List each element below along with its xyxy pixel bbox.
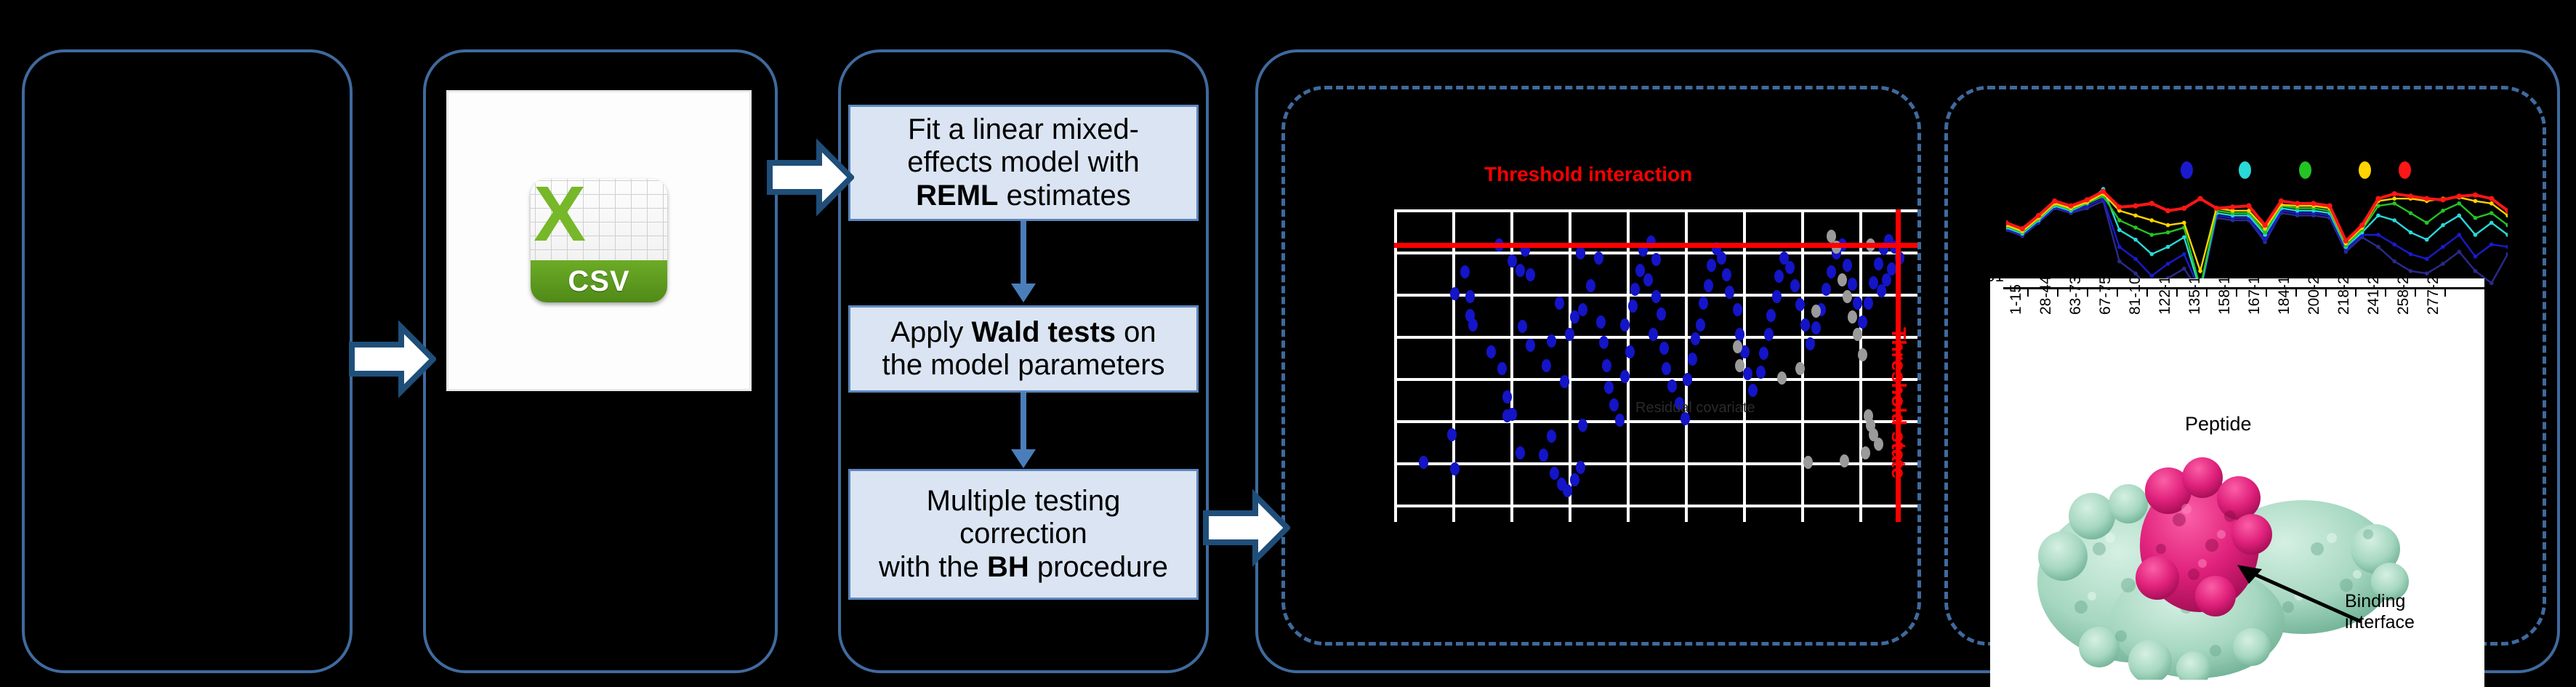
scatter-point xyxy=(1508,254,1517,268)
scatter-point xyxy=(1843,290,1852,303)
peptide-series-marker xyxy=(2473,193,2478,198)
peptide-series-marker xyxy=(2117,204,2122,209)
arrow-data-to-analysis xyxy=(767,138,854,217)
peptide-tick-label: 67-75 xyxy=(2097,278,2114,315)
peptide-series-marker xyxy=(2150,274,2154,278)
peptide-series-marker xyxy=(2133,238,2138,242)
scatter-point xyxy=(1777,371,1787,385)
peptide-axis-tick xyxy=(2087,288,2088,297)
peptide-tick-label: 28-44 xyxy=(2037,278,2055,315)
peptide-series-marker xyxy=(2181,206,2186,211)
peptide-series-marker xyxy=(2457,249,2461,254)
scatter-point xyxy=(1563,484,1572,497)
peptide-series-marker xyxy=(2165,208,2170,213)
peptide-tick-label: 167-180 xyxy=(2246,278,2263,315)
peptide-series-marker xyxy=(2343,238,2348,244)
peptide-axis-tick xyxy=(2325,288,2327,297)
csv-file-card[interactable]: X CSV xyxy=(446,90,752,391)
connector-fit-to-wald xyxy=(1021,221,1026,285)
peptide-series-marker xyxy=(2392,191,2397,196)
scatter-point xyxy=(1699,297,1708,310)
peptide-series-marker xyxy=(2425,221,2429,225)
peptide-axis-tick xyxy=(2415,288,2416,297)
peptide-axis-tick xyxy=(2444,288,2446,297)
peptide-series-marker xyxy=(2117,245,2122,249)
scatter-point xyxy=(1790,279,1800,292)
peptide-series-marker xyxy=(2133,225,2138,230)
scatter-point xyxy=(1450,462,1460,475)
peptide-series-marker xyxy=(2474,254,2478,259)
peptide-series-marker xyxy=(2166,245,2170,249)
peptide-series-marker xyxy=(2182,267,2186,271)
scatter-point xyxy=(1733,340,1742,353)
peptide-series-marker xyxy=(2101,189,2106,194)
peptide-series-marker xyxy=(2182,221,2186,225)
peptide-series-marker xyxy=(2489,196,2494,201)
scatter-point xyxy=(1667,379,1677,393)
peptide-series-marker xyxy=(2409,230,2413,235)
step-multiple-testing[interactable]: Multiple testing correction with the BH … xyxy=(848,469,1199,600)
arrow-analysis-to-results xyxy=(1203,489,1290,567)
peptide-series-marker xyxy=(2409,269,2413,273)
structure-card: 0.01 1-1528-4463-7367-7581-101122-129135… xyxy=(1990,278,2484,687)
peptide-axis-tick xyxy=(2295,288,2297,297)
peptide-series-marker xyxy=(2133,214,2138,218)
peptide-axis-tick xyxy=(2266,288,2267,297)
peptide-series-marker xyxy=(2474,233,2478,237)
peptide-series-marker xyxy=(2425,271,2429,276)
scatter-point xyxy=(1447,428,1457,441)
scatter-point xyxy=(1576,461,1585,474)
peptide-tick-label: 135-144 xyxy=(2186,278,2204,315)
peptide-series-marker xyxy=(2133,257,2138,261)
peptide-series-marker xyxy=(2149,201,2154,206)
peptide-series-marker xyxy=(2392,218,2396,222)
step-multiple-testing-text: Multiple testing correction with the BH … xyxy=(879,485,1168,584)
peptide-series-marker xyxy=(2117,260,2122,264)
peptide-series-marker xyxy=(2117,218,2122,222)
peptide-tick-label: 218-237 xyxy=(2335,278,2353,315)
peptide-series-marker xyxy=(2150,218,2154,222)
legend-dot-timepoint-5 xyxy=(2399,161,2411,179)
peptide-series-marker xyxy=(2425,238,2429,242)
peptide-series-marker xyxy=(2474,269,2478,273)
scatter-point xyxy=(1497,362,1507,375)
scatter-point xyxy=(1486,345,1496,358)
peptide-series-marker xyxy=(2376,214,2380,218)
peptide-series-marker xyxy=(2327,204,2333,209)
scatter-point xyxy=(1419,456,1428,469)
scatter-point xyxy=(1803,456,1813,469)
peptide-series-marker xyxy=(2441,209,2445,213)
scatter-point xyxy=(1576,246,1585,260)
peptide-series-marker xyxy=(2490,242,2494,246)
peptide-series-marker xyxy=(2295,201,2300,206)
peptide-series-marker xyxy=(2166,262,2170,266)
scatter-point xyxy=(1843,259,1852,272)
peptide-series-marker xyxy=(2474,216,2478,220)
peptide-series-marker xyxy=(2457,201,2461,206)
peptide-series-marker xyxy=(2490,281,2494,286)
peptide-series-marker xyxy=(2392,242,2396,246)
scatter-point xyxy=(1620,370,1630,383)
peptide-tick-label: 63-73 xyxy=(2067,278,2085,315)
peptide-axis-title: Peptide xyxy=(2185,413,2252,435)
scatter-point xyxy=(1542,359,1551,372)
legend-dot-timepoint-1 xyxy=(2181,161,2193,179)
peptide-series-marker xyxy=(2036,213,2041,218)
scatter-point xyxy=(1516,264,1525,277)
scatter-point xyxy=(1468,318,1478,332)
peptide-tick-label: 200-214 xyxy=(2306,278,2323,315)
scatter-point xyxy=(1555,297,1564,310)
peptide-series-marker xyxy=(2150,233,2154,237)
scatter-point xyxy=(1659,342,1669,355)
peptide-axis-tick xyxy=(2176,288,2178,297)
peptide-series-marker xyxy=(2440,197,2445,202)
peptide-series-marker xyxy=(2392,196,2396,201)
binding-interface-label: Binding interface xyxy=(2345,591,2415,633)
scatter-point xyxy=(1733,303,1742,316)
peptide-axis-tick xyxy=(2027,288,2029,297)
peptide-series-marker xyxy=(2441,223,2445,228)
peptide-series-marker xyxy=(2425,257,2429,261)
scatter-point xyxy=(1599,336,1609,349)
peptide-series-marker xyxy=(2263,230,2267,235)
connector-wald-to-bh-arrowhead xyxy=(1011,449,1036,468)
scatter-point xyxy=(1547,334,1556,347)
peptide-series-marker xyxy=(2441,262,2445,266)
scatter-axis-ghost-text: Residual covariate xyxy=(1635,400,1755,417)
scatter-point xyxy=(1578,419,1587,432)
peptide-series-marker xyxy=(2457,193,2462,198)
scatter-point xyxy=(1539,449,1548,462)
peptide-series-marker xyxy=(2133,204,2138,209)
scatter-point xyxy=(1838,273,1847,286)
peptide-series-marker xyxy=(2166,230,2170,235)
y-tick-label: 0.01 xyxy=(1990,278,2004,286)
peptide-series-marker xyxy=(2457,214,2461,218)
peptide-series-marker xyxy=(2409,252,2413,257)
scatter-point xyxy=(1874,438,1883,451)
scatter-point xyxy=(1625,345,1635,358)
peptide-tick-label: 184-199 xyxy=(2276,278,2293,315)
scatter-point xyxy=(1822,283,1831,296)
peptide-axis-tick xyxy=(2355,288,2356,297)
peptide-series-marker xyxy=(2133,271,2138,276)
scatter-point xyxy=(1502,409,1512,422)
connector-wald-to-bh xyxy=(1021,393,1026,451)
peptide-series-marker xyxy=(2117,228,2122,233)
threshold-interaction-line xyxy=(1394,243,1917,248)
protein-surface-structure xyxy=(2012,440,2419,680)
peptide-series-marker xyxy=(2441,245,2445,249)
peptide-series-marker xyxy=(2150,252,2154,257)
step-model-fit[interactable]: Fit a linear mixed- effects model with R… xyxy=(848,105,1199,221)
scatter-point xyxy=(1450,287,1460,300)
peptide-series-marker xyxy=(2166,223,2170,228)
peptide-axis-tick xyxy=(2206,288,2207,297)
csv-file-icon: X CSV xyxy=(531,179,667,302)
threshold-state-label: Threshold state xyxy=(1887,327,1910,478)
scatter-point xyxy=(1620,318,1630,332)
scatter-point xyxy=(1764,328,1774,341)
peptide-series-marker xyxy=(2474,199,2478,204)
peptide-series-marker xyxy=(2085,197,2090,202)
csv-format-band: CSV xyxy=(531,260,667,302)
scatter-point xyxy=(1547,430,1556,443)
peptide-series-marker xyxy=(2068,204,2073,209)
scatter-point xyxy=(1811,321,1821,334)
peptide-series-marker xyxy=(2408,193,2413,198)
peptide-series-marker xyxy=(2376,233,2380,237)
peptide-series-marker xyxy=(2246,204,2251,209)
peptide-series-marker xyxy=(2230,204,2235,209)
scatter-point xyxy=(1811,305,1821,318)
scatter-point xyxy=(1785,261,1795,274)
peptide-series-marker xyxy=(2505,245,2508,249)
peptide-tick-label: 158-166 xyxy=(2216,278,2234,315)
scatter-point xyxy=(1560,375,1569,388)
scatter-point xyxy=(1578,303,1587,316)
peptide-series-marker xyxy=(2311,201,2316,206)
peptide-series-marker xyxy=(2359,222,2364,228)
peptide-tick-label: 122-129 xyxy=(2157,278,2174,315)
scatter-point xyxy=(1594,252,1603,265)
step-wald-tests-text: Apply Wald tests on the model parameters xyxy=(882,316,1164,382)
legend-dot-timepoint-3 xyxy=(2299,161,2311,179)
panel-input xyxy=(22,49,353,673)
peptide-axis-tick xyxy=(2057,288,2058,297)
scatter-point xyxy=(1772,290,1782,303)
peptide-tick-label: 277-284 xyxy=(2425,278,2442,315)
peptide-series-marker xyxy=(2263,222,2268,228)
peptide-series-marker xyxy=(2424,196,2429,201)
arrow-input-to-data xyxy=(349,320,436,398)
peptide-series-marker xyxy=(2409,211,2413,215)
peptide-series-marker xyxy=(2375,196,2380,201)
peptide-tick-label: 1-15 xyxy=(2008,284,2025,315)
scatter-point xyxy=(1743,367,1752,380)
scatter-point xyxy=(1550,467,1559,480)
peptide-series-marker xyxy=(2198,269,2202,273)
peptide-tick-label: 81-101 xyxy=(2127,278,2144,315)
scatter-point xyxy=(1759,347,1768,360)
scatter-point xyxy=(1628,300,1638,313)
peptide-series-marker xyxy=(2263,238,2267,242)
peptide-series-marker xyxy=(2376,245,2380,249)
csv-format-label: CSV xyxy=(568,265,629,298)
peptide-tick-label: 258-266 xyxy=(2395,278,2412,315)
scatter-point xyxy=(1707,259,1716,272)
scatter-point xyxy=(1643,273,1653,286)
peptide-axis-tick xyxy=(2117,288,2118,297)
peptide-series-marker xyxy=(2052,198,2057,204)
scatter-point xyxy=(1864,297,1873,310)
step-wald-tests[interactable]: Apply Wald tests on the model parameters xyxy=(848,305,1199,393)
peptide-series-marker xyxy=(2182,252,2186,257)
scatter-point xyxy=(1651,253,1661,266)
connector-fit-to-wald-arrowhead xyxy=(1011,284,1036,302)
peptide-series-marker xyxy=(2214,206,2219,211)
figure-canvas: X CSV Fit a linear mixed- effects model … xyxy=(0,0,2576,687)
scatter-point xyxy=(1502,390,1512,403)
peptide-axis-tick xyxy=(2385,288,2386,297)
scatter-point xyxy=(1602,359,1611,372)
peptide-series-marker xyxy=(2490,201,2494,206)
legend-dot-timepoint-2 xyxy=(2239,161,2251,179)
threshold-interaction-label: Threshold interaction xyxy=(1484,163,1692,186)
peptide-series-marker xyxy=(2020,226,2025,231)
scatter-point xyxy=(1615,414,1625,427)
peptide-series-marker xyxy=(2490,211,2494,215)
scatter-point xyxy=(1877,284,1886,297)
step-model-fit-text: Fit a linear mixed- effects model with R… xyxy=(907,113,1139,212)
peptide-series-marker xyxy=(2457,233,2461,237)
peptide-series-line xyxy=(2006,198,2508,292)
excel-x-icon: X xyxy=(534,179,586,253)
scatter-point xyxy=(1630,283,1640,296)
peptide-series-marker xyxy=(2392,260,2396,264)
volcano-scatter-plot xyxy=(1394,209,1917,522)
peptide-axis-tick xyxy=(2236,288,2237,297)
peptide-series-marker xyxy=(2279,198,2284,204)
legend-dot-timepoint-4 xyxy=(2359,161,2371,179)
peptide-series-marker xyxy=(2490,221,2494,225)
peptide-series-marker xyxy=(2392,201,2396,206)
peptide-tick-label: 241-257 xyxy=(2365,278,2383,315)
scatter-point xyxy=(1516,446,1525,459)
scatter-point xyxy=(1725,286,1734,299)
scatter-point xyxy=(1717,252,1726,265)
peptide-axis-tick xyxy=(2146,288,2148,297)
scatter-point xyxy=(1756,366,1766,379)
peptide-series-marker xyxy=(2197,196,2202,201)
